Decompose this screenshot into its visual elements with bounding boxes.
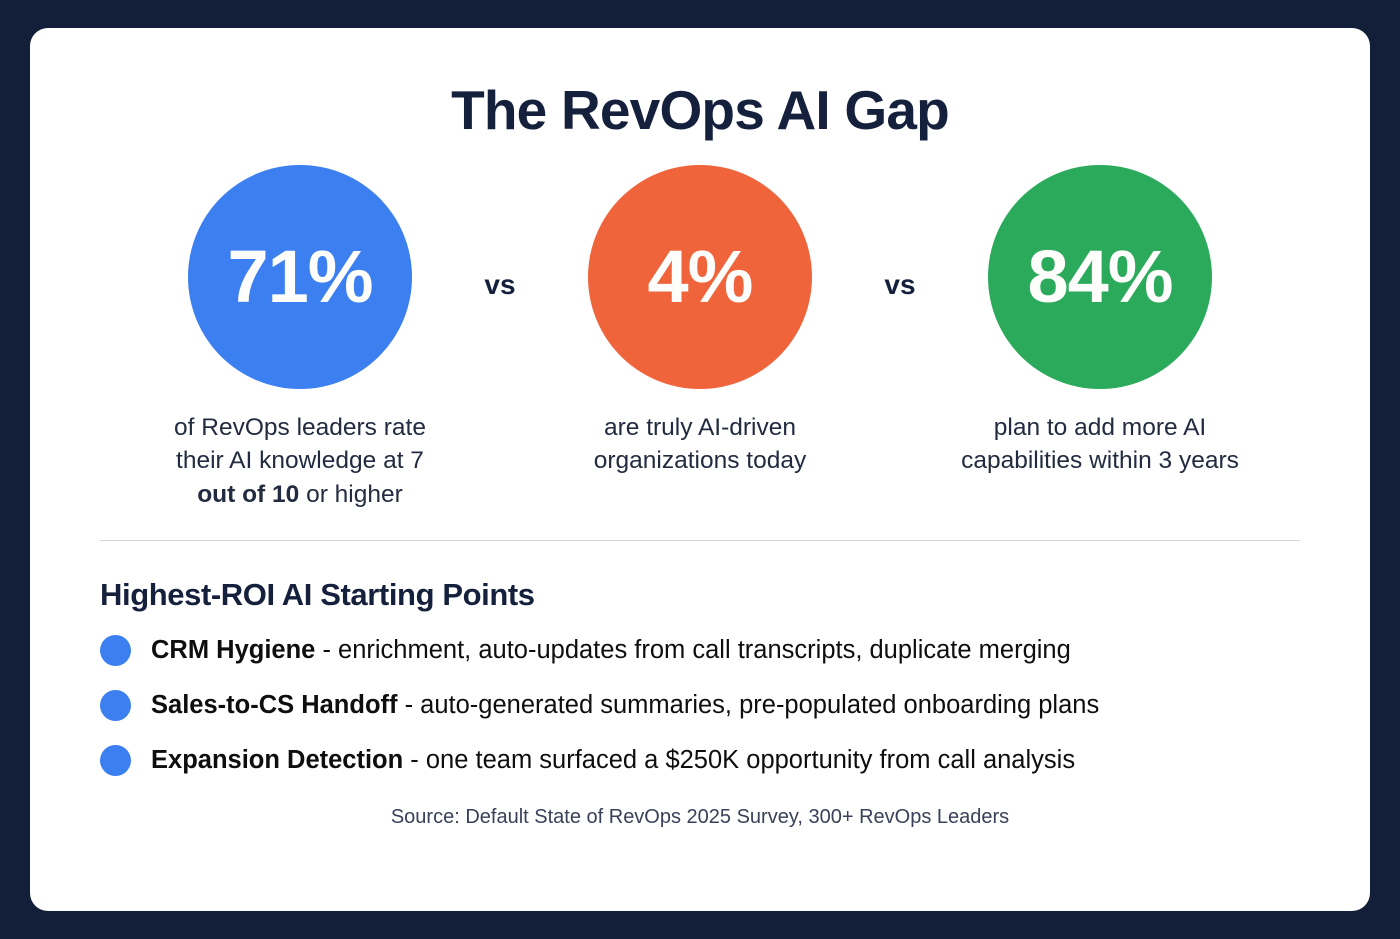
bullet-dot-icon (100, 690, 131, 721)
list-item-rest: - auto-generated summaries, pre-populate… (398, 691, 1100, 719)
stat-block-2: 4% are truly AI-driven organizations tod… (535, 165, 865, 479)
page-title: The RevOps AI Gap (100, 80, 1300, 141)
stat-circle-1: 71% (188, 165, 412, 389)
list-item-lead: Sales-to-CS Handoff (151, 691, 398, 719)
source-note: Source: Default State of RevOps 2025 Sur… (100, 806, 1300, 829)
stat-value-3: 84% (1027, 234, 1172, 319)
vs-separator-2: vs (865, 269, 935, 301)
section-divider (100, 540, 1300, 541)
stat-caption-3: plan to add more AI capabilities within … (961, 411, 1239, 479)
list-item-lead: Expansion Detection (151, 746, 403, 774)
list-item-rest: - enrichment, auto-updates from call tra… (315, 636, 1070, 664)
list-item: CRM Hygiene - enrichment, auto-updates f… (100, 635, 1300, 666)
stat-value-1: 71% (227, 234, 372, 319)
stat-caption-2-line-2: organizations today (594, 444, 806, 478)
list-item-text: Expansion Detection - one team surfaced … (151, 745, 1075, 776)
stat-caption-3-line-1: plan to add more AI (961, 411, 1239, 445)
infographic-card: The RevOps AI Gap 71% of RevOps leaders … (30, 28, 1370, 911)
stat-caption-2: are truly AI-driven organizations today (594, 411, 806, 479)
stat-caption-2-line-1: are truly AI-driven (594, 411, 806, 445)
stat-circle-3: 84% (988, 165, 1212, 389)
stat-block-3: 84% plan to add more AI capabilities wit… (935, 165, 1265, 479)
list-item-text: CRM Hygiene - enrichment, auto-updates f… (151, 635, 1071, 666)
bullet-dot-icon (100, 635, 131, 666)
stat-caption-1-line-2: their AI knowledge at 7 (174, 444, 426, 478)
stat-caption-1: of RevOps leaders rate their AI knowledg… (174, 411, 426, 512)
list-item: Expansion Detection - one team surfaced … (100, 745, 1300, 776)
vs-separator-1: vs (465, 269, 535, 301)
stat-caption-1-tail: or higher (299, 481, 403, 508)
page-backdrop: The RevOps AI Gap 71% of RevOps leaders … (0, 0, 1400, 939)
stats-row: 71% of RevOps leaders rate their AI know… (100, 165, 1300, 512)
stat-block-1: 71% of RevOps leaders rate their AI know… (135, 165, 465, 512)
section-heading: Highest-ROI AI Starting Points (100, 577, 1300, 613)
list-item-text: Sales-to-CS Handoff - auto-generated sum… (151, 690, 1099, 721)
stat-value-2: 4% (648, 234, 753, 319)
list-item-lead: CRM Hygiene (151, 636, 315, 664)
list-item-rest: - one team surfaced a $250K opportunity … (403, 746, 1075, 774)
stat-circle-2: 4% (588, 165, 812, 389)
list-item: Sales-to-CS Handoff - auto-generated sum… (100, 690, 1300, 721)
stat-caption-1-emphasis: out of 10 (197, 481, 299, 508)
stat-caption-1-line-3: out of 10 or higher (174, 478, 426, 512)
bullet-list: CRM Hygiene - enrichment, auto-updates f… (100, 635, 1300, 800)
bullet-dot-icon (100, 745, 131, 776)
stat-caption-1-line-1: of RevOps leaders rate (174, 411, 426, 445)
stat-caption-3-line-2: capabilities within 3 years (961, 444, 1239, 478)
